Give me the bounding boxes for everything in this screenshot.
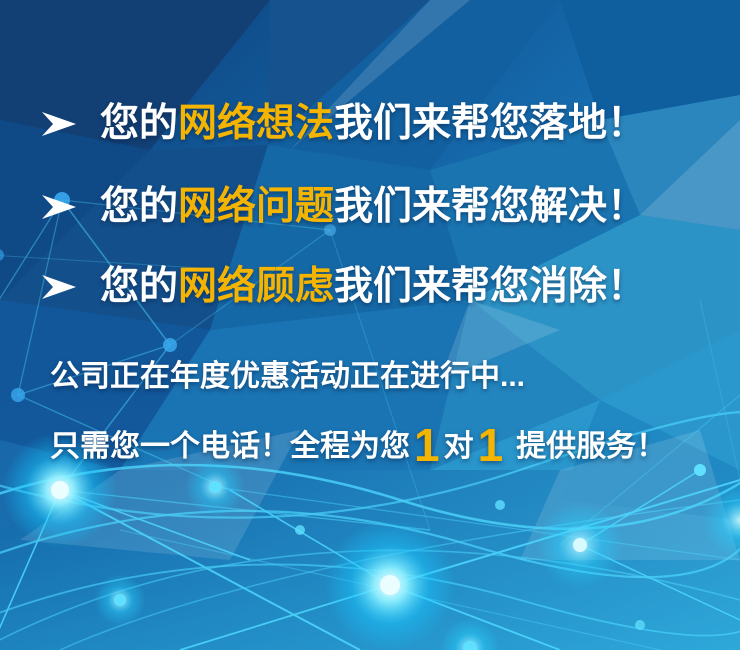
headline-row-1: 您的网络想法我们来帮您落地！ xyxy=(40,104,646,143)
headline-row-3: 您的网络顾虑我们来帮您消除！ xyxy=(40,267,646,306)
headline-1-prefix: 您的 xyxy=(100,102,178,145)
banner-content: 您的网络想法我们来帮您落地！ 您的网络问题我们来帮您解决！ 您的网络顾虑我们来帮… xyxy=(0,0,740,650)
promo-line: 公司正在年度优惠活动正在进行中... xyxy=(50,362,525,392)
arrow-right-icon xyxy=(40,109,78,139)
service-number-first: 1 xyxy=(410,419,444,471)
headline-3-suffix: 我们来帮您消除！ xyxy=(334,265,646,308)
arrow-right-icon xyxy=(40,272,78,302)
headline-1-text: 您的网络想法我们来帮您落地！ xyxy=(100,104,646,143)
headline-2-text: 您的网络问题我们来帮您解决！ xyxy=(100,187,646,226)
promotional-banner: 您的网络想法我们来帮您落地！ 您的网络问题我们来帮您解决！ 您的网络顾虑我们来帮… xyxy=(0,0,740,650)
service-line-prefix: 只需您一个电话！全程为您 xyxy=(50,430,410,463)
headline-1-suffix: 我们来帮您落地！ xyxy=(334,102,646,145)
service-line-middle: 对 xyxy=(444,430,474,463)
headline-2-prefix: 您的 xyxy=(100,185,178,228)
service-line: 只需您一个电话！全程为您1对1提供服务！ xyxy=(50,432,666,462)
headline-3-prefix: 您的 xyxy=(100,265,178,308)
headline-3-highlight: 网络顾虑 xyxy=(178,265,334,308)
headline-2-suffix: 我们来帮您解决！ xyxy=(334,185,646,228)
arrow-right-icon xyxy=(40,192,78,222)
headline-3-text: 您的网络顾虑我们来帮您消除！ xyxy=(100,267,646,306)
headline-2-highlight: 网络问题 xyxy=(178,185,334,228)
service-line-suffix: 提供服务！ xyxy=(516,430,666,463)
headline-1-highlight: 网络想法 xyxy=(178,102,334,145)
headline-row-2: 您的网络问题我们来帮您解决！ xyxy=(40,187,646,226)
service-number-second: 1 xyxy=(474,419,508,471)
